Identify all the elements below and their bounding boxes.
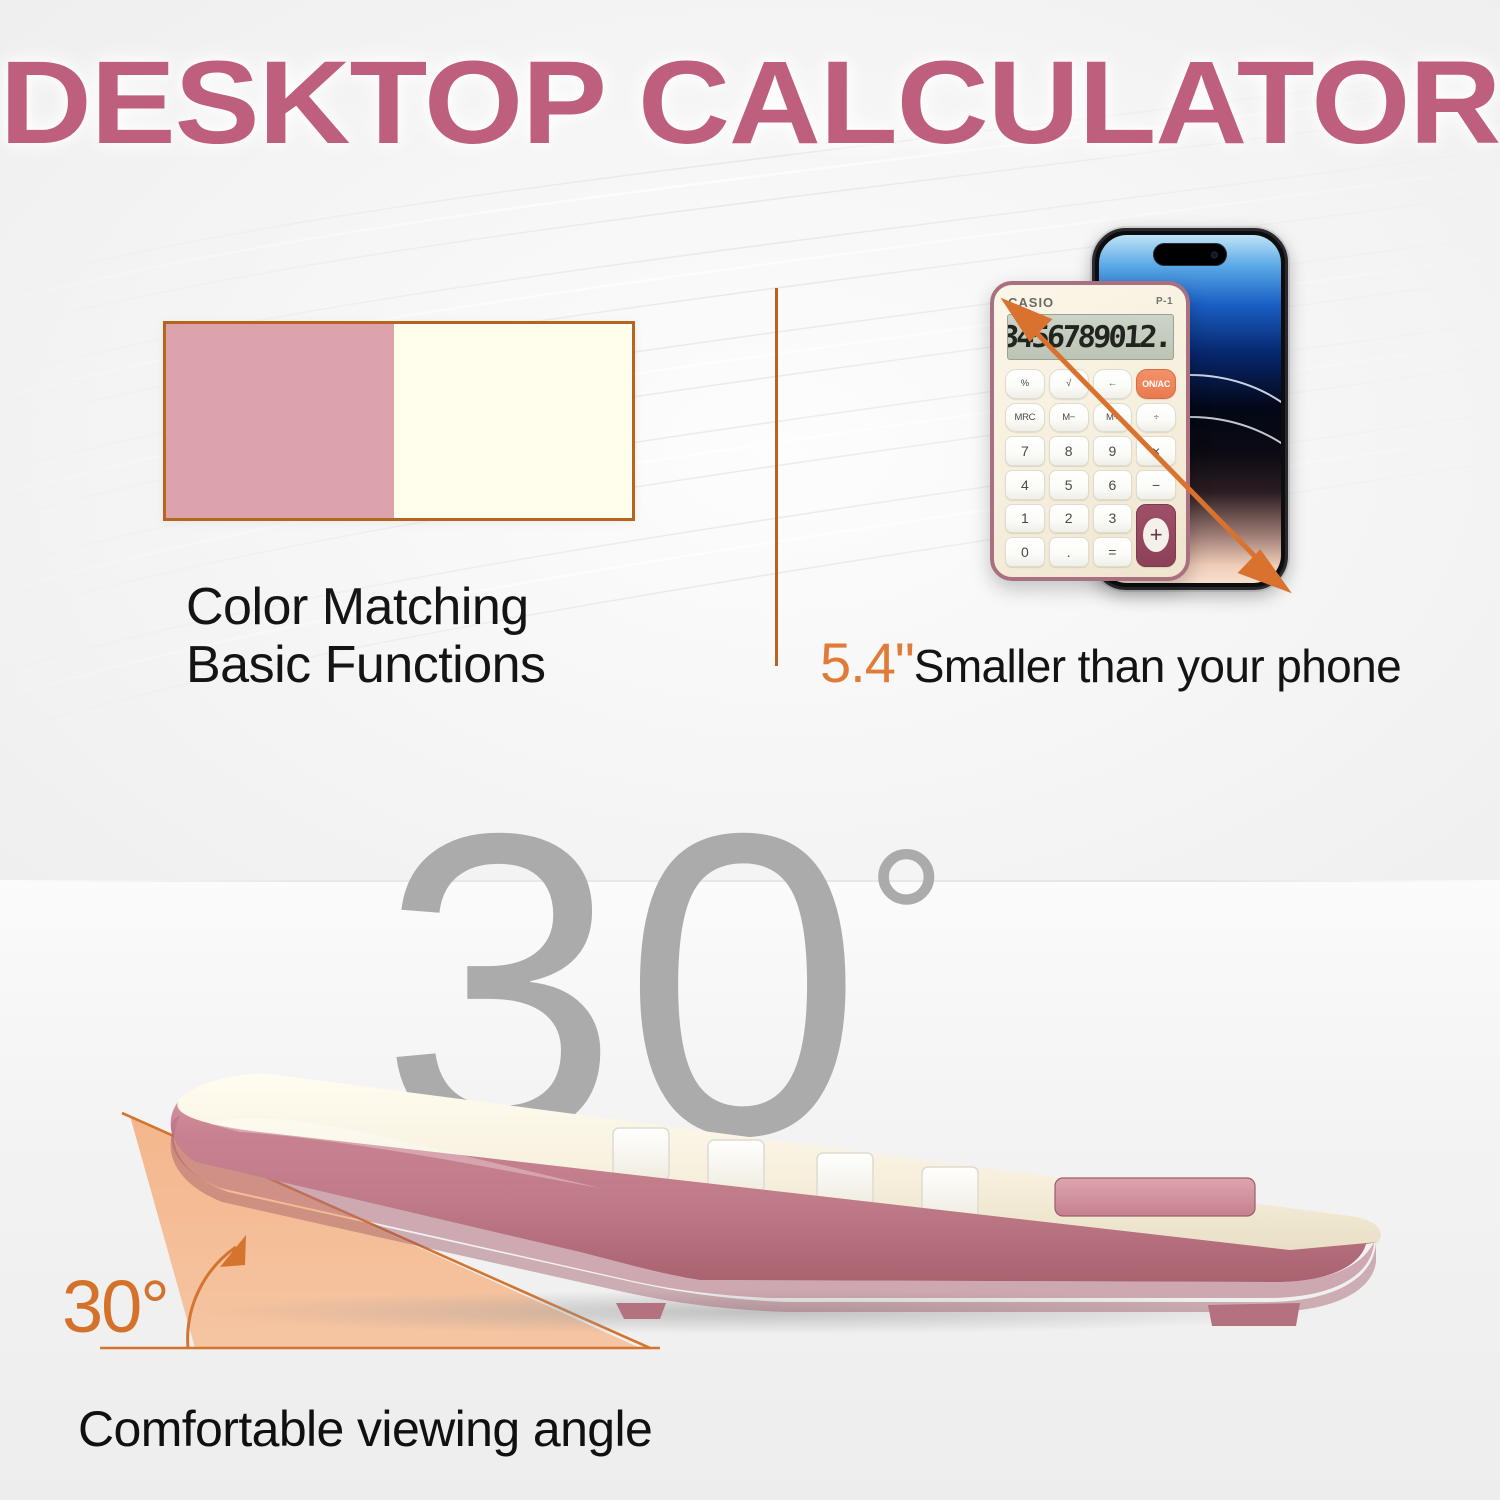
key-multiply[interactable]: × [1136, 436, 1176, 466]
caption-line-2: Basic Functions [186, 636, 706, 694]
calculator-side-view [60, 1020, 1400, 1350]
size-comparison-group: CASIO P-1 123456789012. % √ ← ON/AC MRC … [960, 228, 1320, 628]
product-infographic: DESKTOP CALCULATOR Color Matching Basic … [0, 0, 1500, 1500]
key-on-ac[interactable]: ON/AC [1136, 369, 1176, 399]
key-divide[interactable]: ÷ [1136, 403, 1176, 433]
calculator-brand-label: CASIO [1008, 295, 1054, 310]
key-9[interactable]: 9 [1093, 436, 1133, 466]
measure-text: Smaller than your phone [914, 639, 1401, 693]
color-matching-caption: Color Matching Basic Functions [186, 578, 706, 694]
key-minus[interactable]: − [1136, 470, 1176, 500]
key-4[interactable]: 4 [1005, 470, 1045, 500]
page-title: DESKTOP CALCULATOR [0, 44, 1500, 162]
key-plus[interactable] [1136, 504, 1176, 567]
key-6[interactable]: 6 [1093, 470, 1133, 500]
key-equals[interactable]: = [1093, 537, 1133, 567]
key-8[interactable]: 8 [1049, 436, 1089, 466]
key-3[interactable]: 3 [1093, 504, 1133, 534]
key-5[interactable]: 5 [1049, 470, 1089, 500]
lcd-digits: 123456789012. [1007, 320, 1171, 355]
calculator-lcd-display: 123456789012. [1007, 314, 1174, 360]
measure-value: 5.4" [820, 630, 914, 695]
angle-caption: Comfortable viewing angle [78, 1400, 652, 1458]
product-foot-right [1208, 1303, 1300, 1326]
key-sqrt[interactable]: √ [1049, 369, 1089, 399]
dynamic-island-icon [1153, 243, 1227, 266]
watermark-degree-icon: ° [866, 809, 946, 1032]
key-mrc[interactable]: MRC [1005, 403, 1045, 433]
key-percent[interactable]: % [1005, 369, 1045, 399]
key-2[interactable]: 2 [1049, 504, 1089, 534]
key-decimal[interactable]: . [1049, 537, 1089, 567]
size-comparison-caption: 5.4" Smaller than your phone [820, 630, 1401, 695]
key-m-minus[interactable]: M− [1049, 403, 1089, 433]
product-foot-left [616, 1303, 666, 1319]
caption-line-1: Color Matching [186, 578, 706, 636]
mini-calculator: CASIO P-1 123456789012. % √ ← ON/AC MRC … [990, 281, 1190, 581]
color-swatch [163, 321, 635, 521]
swatch-pink-half [166, 324, 394, 518]
vertical-divider [775, 288, 778, 666]
product-plus-key [1055, 1178, 1255, 1216]
key-1[interactable]: 1 [1005, 504, 1045, 534]
key-backspace[interactable]: ← [1093, 369, 1133, 399]
key-0[interactable]: 0 [1005, 537, 1045, 567]
key-m-plus[interactable]: M+ [1093, 403, 1133, 433]
calculator-model-label: P-1 [1156, 296, 1173, 307]
swatch-cream-half [394, 324, 632, 518]
calculator-keypad: % √ ← ON/AC MRC M− M+ ÷ 7 8 9 × 4 5 6 − … [1005, 369, 1176, 567]
key-7[interactable]: 7 [1005, 436, 1045, 466]
